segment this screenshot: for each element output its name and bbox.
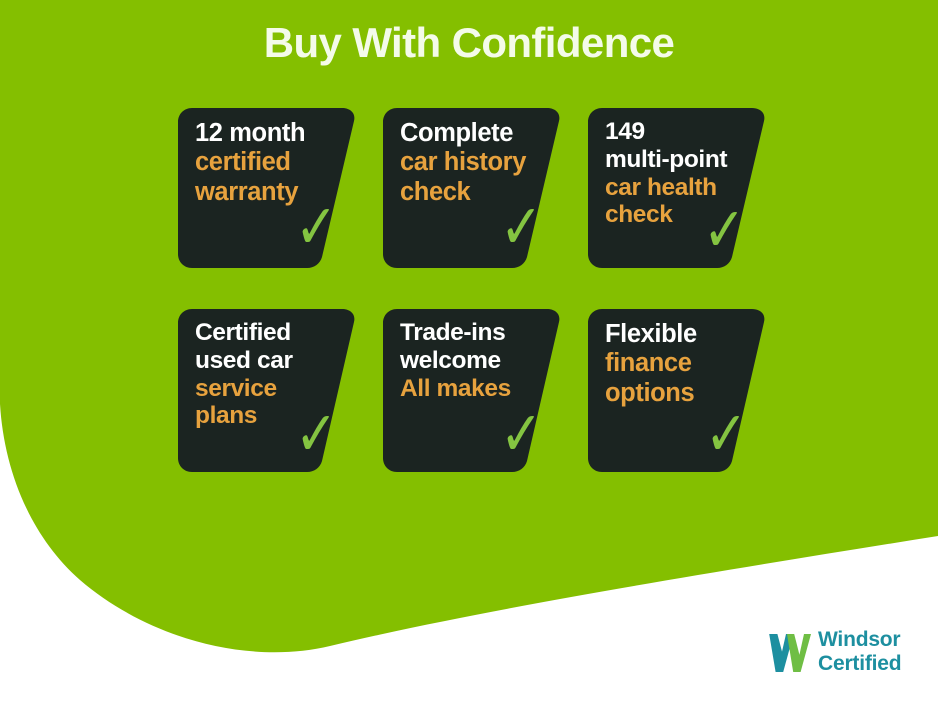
card-line: certified	[195, 148, 334, 177]
card-line: car history	[400, 148, 539, 177]
checkmark-icon: ✓	[295, 196, 338, 258]
page-title: Buy With Confidence	[0, 19, 938, 67]
card-flexible-finance-options: Flexible finance options ✓	[588, 309, 766, 472]
card-line: Certified	[195, 319, 334, 347]
checkmark-icon: ✓	[500, 403, 543, 465]
checkmark-icon: ✓	[295, 403, 338, 465]
checkmark-icon: ✓	[705, 403, 748, 465]
card-line: used car	[195, 347, 334, 375]
checkmark-icon: ✓	[703, 199, 746, 261]
checkmark-icon: ✓	[500, 196, 543, 258]
card-complete-car-history-check: Complete car history check ✓	[383, 108, 561, 268]
card-149-multi-point-car-health-check: 149 multi-point car health check ✓	[588, 108, 766, 268]
logo-wordmark: Windsor Certified	[818, 628, 901, 675]
logo-line-2: Certified	[818, 652, 901, 676]
card-line: Flexible	[605, 320, 744, 349]
windsor-certified-logo: Windsor Certified	[766, 628, 930, 680]
card-text-block: Flexible finance options	[605, 320, 744, 408]
windsor-w-mark-icon	[766, 631, 812, 675]
poster-canvas: Buy With Confidence 12 month certified w…	[0, 0, 938, 704]
card-line: 12 month	[195, 119, 334, 148]
card-line: 149	[605, 118, 744, 146]
card-certified-used-car-service-plans: Certified used car service plans ✓	[178, 309, 356, 472]
card-text-block: Trade-ins welcome All makes	[400, 319, 539, 402]
card-12-month-certified-warranty: 12 month certified warranty ✓	[178, 108, 356, 268]
card-line: multi-point	[605, 146, 744, 174]
logo-line-1: Windsor	[818, 628, 901, 652]
card-trade-ins-welcome-all-makes: Trade-ins welcome All makes ✓	[383, 309, 561, 472]
card-line: finance	[605, 349, 744, 378]
card-line: Complete	[400, 119, 539, 148]
card-line: Trade-ins	[400, 319, 539, 347]
card-line: welcome	[400, 347, 539, 375]
